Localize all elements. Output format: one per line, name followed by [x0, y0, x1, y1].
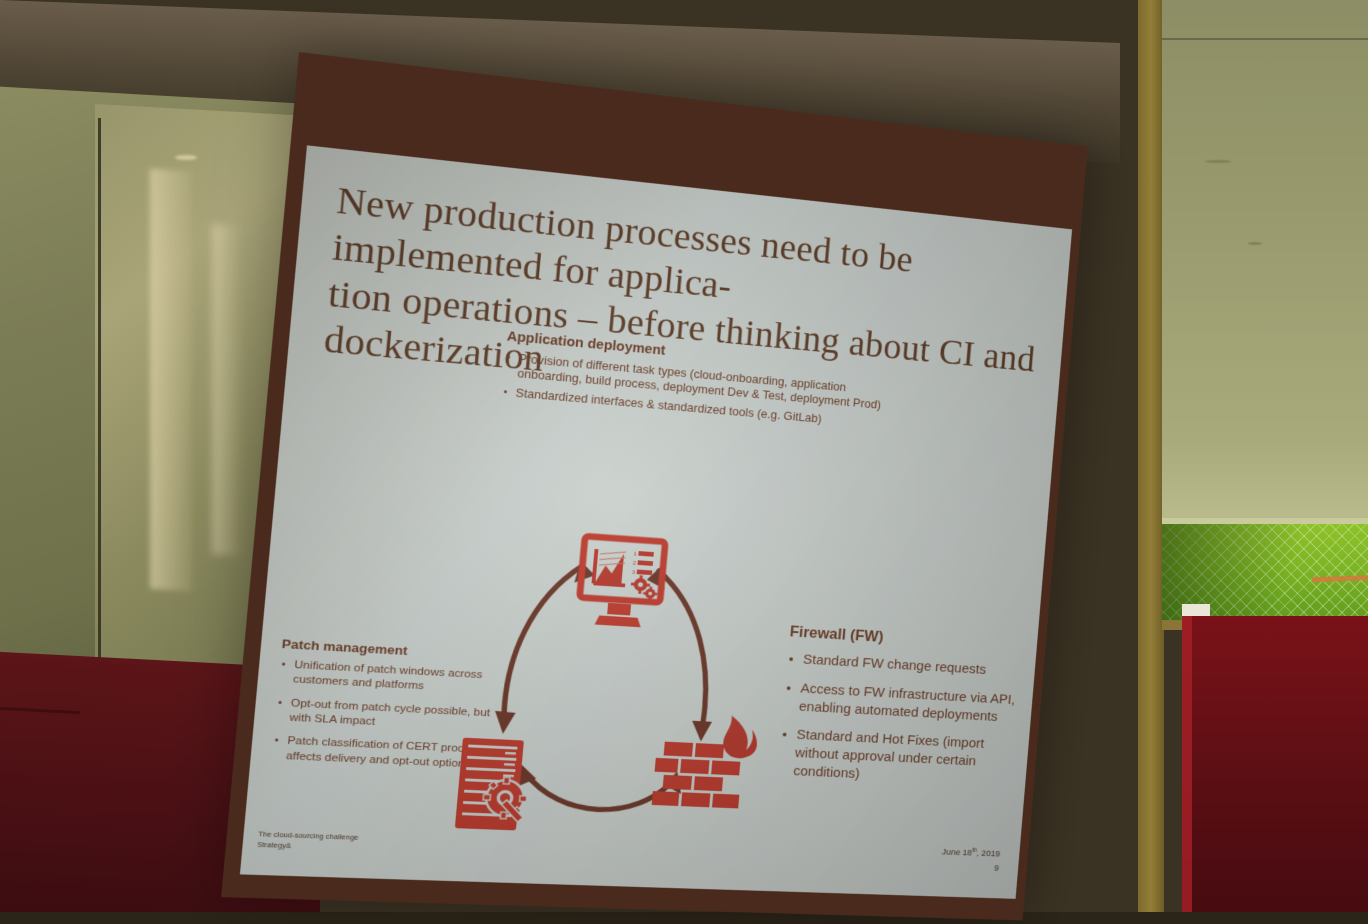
- footer-page-number: 9: [940, 860, 999, 876]
- svg-text:2: 2: [633, 561, 637, 567]
- footer-date-main: June 18: [942, 848, 973, 859]
- slide-footer-right: June 18th, 2019 9: [940, 846, 1000, 875]
- projected-slide-frame: New production processes need to be impl…: [221, 52, 1088, 920]
- bottom-arrow-icon: [514, 765, 683, 813]
- cycle-diagram: 1 2 3: [442, 438, 783, 845]
- list-item: Standard and Hot Fixes (import without a…: [777, 726, 1024, 791]
- cycle-diagram-svg: 1 2 3: [442, 438, 783, 845]
- block-heading-firewall: Firewall (FW): [789, 624, 1032, 656]
- bullet-list-firewall: Standard FW change requests Access to FW…: [777, 650, 1030, 790]
- right-arrow-icon: [632, 563, 726, 742]
- list-item: Standard FW change requests: [787, 650, 1030, 682]
- slide-canvas: New production processes need to be impl…: [240, 145, 1072, 899]
- svg-text:3: 3: [632, 570, 636, 576]
- list-item: Access to FW infrastructure via API, ena…: [783, 679, 1028, 727]
- slide-footer-left: The cloud-sourcing challenge Strategy&: [257, 828, 359, 853]
- footer-date: June 18th, 2019: [941, 846, 1000, 862]
- projection-area: New production processes need to be impl…: [0, 0, 1368, 912]
- block-firewall: Firewall (FW) Standard FW change request…: [776, 624, 1032, 801]
- svg-text:1: 1: [633, 552, 637, 558]
- footer-date-year: , 2019: [976, 849, 1000, 860]
